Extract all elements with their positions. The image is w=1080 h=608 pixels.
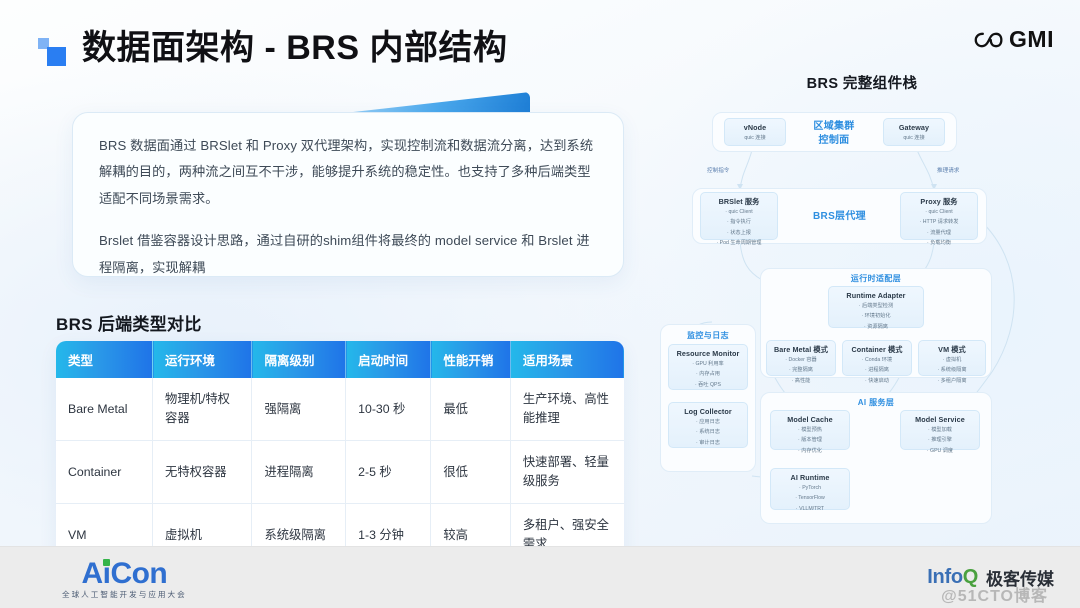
resource-monitor-line-2: · 内存占用	[672, 370, 744, 378]
bare-metal-mode-line-3: · 高性能	[770, 377, 832, 385]
runtime-adapter-line-3: · 资源隔离	[832, 323, 920, 331]
table-cell: 无特权容器	[153, 441, 252, 504]
table-cell: 10-30 秒	[346, 378, 431, 441]
gmi-infinity-icon	[974, 30, 1004, 50]
aicon-word-b: Con	[110, 557, 167, 590]
model-cache-title: Model Cache	[774, 415, 846, 424]
ai-runtime-line-3: · VLLM/TRT	[774, 505, 846, 513]
table-col-header: 适用场景	[510, 341, 624, 378]
table-cell: 强隔离	[252, 378, 346, 441]
watermark: @51CTO博客	[941, 582, 1048, 606]
log-collector-title: Log Collector	[672, 407, 744, 416]
container-mode-line-2: · 进程隔离	[846, 366, 908, 374]
control-plane-label: 区域集群 控制面	[789, 120, 879, 147]
log-collector-line-3: · 审计日志	[672, 439, 744, 447]
table-col-header: 性能开销	[431, 341, 511, 378]
gmi-logo: GMI	[974, 26, 1054, 53]
resource-monitor-title: Resource Monitor	[672, 349, 744, 358]
model-cache-line-1: · 模型预热	[774, 426, 846, 434]
resource-monitor-line-1: · GPU 利用率	[672, 360, 744, 368]
model-cache-line-2: · 版本管理	[774, 436, 846, 444]
table-col-header: 运行环境	[153, 341, 252, 378]
vnode-line: quic 连接	[728, 134, 782, 142]
table-col-header: 启动时间	[346, 341, 431, 378]
aicon-logo: AiCon 全球人工智能开发与应用大会	[62, 557, 187, 600]
slide-header: 数据面架构 - BRS 内部结构	[38, 28, 507, 72]
brslet-line-3: · 状态上报	[704, 229, 774, 237]
proxy-line-3: · 流量代理	[904, 229, 974, 237]
page-title: 数据面架构 - BRS 内部结构	[82, 28, 507, 68]
container-mode-title: Container 模式	[846, 345, 908, 354]
resource-monitor-line-3: · 吞吐 QPS	[672, 381, 744, 389]
model-service-box: Model Service · 模型加载 · 推理引擎 · GPU 调度	[900, 410, 980, 450]
ai-runtime-line-1: · PyTorch	[774, 484, 846, 492]
bare-metal-mode-line-1: · Docker 容器	[770, 356, 832, 364]
vm-mode-title: VM 模式	[922, 345, 982, 354]
brslet-line-2: · 指令执行	[704, 218, 774, 226]
runtime-adapter-line-2: · 环境初始化	[832, 312, 920, 320]
table-cell: 生产环境、高性能推理	[510, 378, 624, 441]
container-mode-line-1: · Conda 环境	[846, 356, 908, 364]
runtime-layer-label: 运行时适配层	[760, 273, 992, 284]
flow-label-inference: 推理请求	[937, 166, 959, 174]
model-cache-box: Model Cache · 模型预热 · 版本管理 · 内存优化	[770, 410, 850, 450]
architecture-diagram: BRS 完整组件栈	[652, 72, 1072, 532]
vm-mode-line-1: · 虚拟机	[922, 356, 982, 364]
brs-proxy-layer-label: BRS层代理	[787, 210, 892, 224]
ai-runtime-box: AI Runtime · PyTorch · TensorFlow · VLLM…	[770, 468, 850, 510]
runtime-adapter-box: Runtime Adapter · 后端类型检测 · 环境初始化 · 资源隔离	[828, 286, 924, 328]
runtime-adapter-title: Runtime Adapter	[832, 291, 920, 300]
diagram-title: BRS 完整组件栈	[652, 72, 1072, 93]
table-row: Container 无特权容器 进程隔离 2-5 秒 很低 快速部署、轻量级服务	[56, 441, 624, 504]
aicon-dot-icon	[103, 559, 110, 566]
table-col-header: 类型	[56, 341, 153, 378]
model-service-line-1: · 模型加载	[904, 426, 976, 434]
model-service-title: Model Service	[904, 415, 976, 424]
model-cache-line-3: · 内存优化	[774, 447, 846, 455]
log-collector-line-2: · 系统日志	[672, 428, 744, 436]
resource-monitor-box: Resource Monitor · GPU 利用率 · 内存占用 · 吞吐 Q…	[668, 344, 748, 390]
table-cell: 进程隔离	[252, 441, 346, 504]
log-collector-line-1: · 应用日志	[672, 418, 744, 426]
bare-metal-mode-box: Bare Metal 模式 · Docker 容器 · 完整隔离 · 高性能	[766, 340, 836, 376]
flow-label-control: 控制指令	[707, 166, 729, 174]
table-heading: BRS 后端类型对比	[56, 310, 202, 335]
monitoring-layer-label: 监控与日志	[660, 330, 756, 341]
slide-root: 数据面架构 - BRS 内部结构 GMI BRS 数据面通过 BRSlet 和 …	[0, 0, 1080, 608]
vnode-box: vNode quic 连接	[724, 118, 786, 146]
proxy-line-1: · quic Client	[904, 208, 974, 216]
title-decor-squares-icon	[38, 38, 68, 72]
vnode-title: vNode	[728, 123, 782, 132]
control-plane-label-line1: 区域集群	[789, 120, 879, 134]
proxy-box: Proxy 服务 · quic Client · HTTP 请求转发 · 流量代…	[900, 192, 978, 240]
table-cell: Container	[56, 441, 153, 504]
vm-mode-line-2: · 系统级隔离	[922, 366, 982, 374]
brslet-title: BRSlet 服务	[704, 197, 774, 206]
ai-runtime-line-2: · TensorFlow	[774, 494, 846, 502]
table-header-row: 类型 运行环境 隔离级别 启动时间 性能开销 适用场景	[56, 341, 624, 378]
container-mode-box: Container 模式 · Conda 环境 · 进程隔离 · 快速启动	[842, 340, 912, 376]
model-service-line-2: · 推理引擎	[904, 436, 976, 444]
table-cell: 2-5 秒	[346, 441, 431, 504]
table-cell: 很低	[431, 441, 511, 504]
slide-footer: AiCon 全球人工智能开发与应用大会 InfoQ 极客传媒 @51CTO博客	[0, 546, 1080, 608]
brslet-line-1: · quic Client	[704, 208, 774, 216]
bare-metal-mode-line-2: · 完整隔离	[770, 366, 832, 374]
table-col-header: 隔离级别	[252, 341, 346, 378]
vm-mode-box: VM 模式 · 虚拟机 · 系统级隔离 · 多租户隔离	[918, 340, 986, 376]
proxy-line-2: · HTTP 请求转发	[904, 218, 974, 226]
container-mode-line-3: · 快速启动	[846, 377, 908, 385]
model-service-line-3: · GPU 调度	[904, 447, 976, 455]
proxy-line-4: · 负载均衡	[904, 239, 974, 247]
gateway-title: Gateway	[887, 123, 941, 132]
backend-comparison-table: 类型 运行环境 隔离级别 启动时间 性能开销 适用场景 Bare Metal 物…	[56, 341, 624, 566]
table-cell: Bare Metal	[56, 378, 153, 441]
brslet-line-4: · Pod 生命周期管理	[704, 239, 774, 247]
proxy-title: Proxy 服务	[904, 197, 974, 206]
gateway-line: quic 连接	[887, 134, 941, 142]
gmi-logo-text: GMI	[1009, 26, 1054, 53]
control-plane-label-line2: 控制面	[789, 134, 879, 148]
table-cell: 物理机/特权容器	[153, 378, 252, 441]
summary-card: BRS 数据面通过 BRSlet 和 Proxy 双代理架构，实现控制流和数据流…	[72, 112, 624, 277]
bare-metal-mode-title: Bare Metal 模式	[770, 345, 832, 354]
vm-mode-line-3: · 多租户隔离	[922, 377, 982, 385]
table-row: Bare Metal 物理机/特权容器 强隔离 10-30 秒 最低 生产环境、…	[56, 378, 624, 441]
ai-service-layer-label: AI 服务层	[760, 397, 992, 408]
aicon-wordmark: AiCon	[62, 557, 187, 591]
brslet-box: BRSlet 服务 · quic Client · 指令执行 · 状态上报 · …	[700, 192, 778, 240]
runtime-adapter-line-1: · 后端类型检测	[832, 302, 920, 310]
table-cell: 最低	[431, 378, 511, 441]
gateway-box: Gateway quic 连接	[883, 118, 945, 146]
table-cell: 快速部署、轻量级服务	[510, 441, 624, 504]
summary-paragraph-1: BRS 数据面通过 BRSlet 和 Proxy 双代理架构，实现控制流和数据流…	[99, 133, 597, 212]
summary-paragraph-2: Brslet 借鉴容器设计思路，通过自研的shim组件将最终的 model se…	[99, 228, 597, 281]
ai-runtime-title: AI Runtime	[774, 473, 846, 482]
log-collector-box: Log Collector · 应用日志 · 系统日志 · 审计日志	[668, 402, 748, 448]
